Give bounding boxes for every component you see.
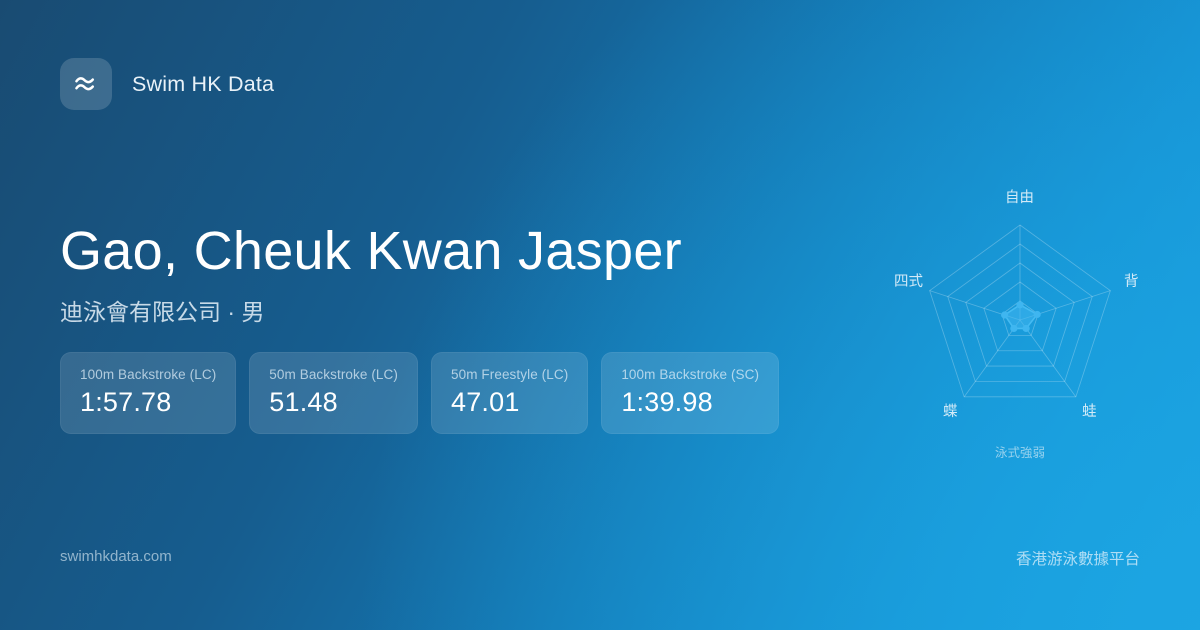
radar-point-0 [1016, 301, 1023, 308]
radar-point-4 [1001, 311, 1008, 318]
radar-point-2 [1023, 325, 1030, 332]
radar-label-butterfly: 蝶 [943, 400, 958, 421]
radar-label-backstroke: 背 [1124, 270, 1139, 291]
radar-plot [865, 172, 1175, 422]
footer-site-url: swimhkdata.com [60, 548, 172, 565]
radar-caption: 泳式強弱 [865, 442, 1175, 461]
brand-name: Swim HK Data [132, 72, 274, 97]
best-time-event: 100m Backstroke (SC) [621, 367, 759, 382]
best-time-event: 50m Backstroke (LC) [269, 367, 398, 382]
wave-approx-icon [71, 69, 101, 99]
radar-point-3 [1010, 325, 1017, 332]
stroke-strength-radar-chart: 自由 背 蛙 蝶 四式 泳式強弱 [865, 172, 1175, 468]
best-time-event: 50m Freestyle (LC) [451, 367, 568, 382]
brand-lockup: Swim HK Data [60, 58, 274, 110]
footer-tagline: 香港游泳數據平台 [1016, 547, 1140, 569]
best-time-value: 1:39.98 [621, 387, 759, 418]
app-logo-tile [60, 58, 112, 110]
radar-label-freestyle: 自由 [1005, 186, 1034, 207]
athlete-hero: Gao, Cheuk Kwan Jasper 迪泳會有限公司 · 男 [60, 222, 820, 327]
best-time-value: 47.01 [451, 387, 568, 418]
best-time-card: 50m Backstroke (LC) 51.48 [249, 352, 418, 434]
radar-label-im: 四式 [894, 270, 923, 291]
best-time-card: 100m Backstroke (LC) 1:57.78 [60, 352, 236, 434]
best-time-card: 100m Backstroke (SC) 1:39.98 [601, 352, 779, 434]
best-time-event: 100m Backstroke (LC) [80, 367, 216, 382]
page-title: Gao, Cheuk Kwan Jasper [60, 222, 820, 280]
og-card-canvas: Swim HK Data Gao, Cheuk Kwan Jasper 迪泳會有… [0, 0, 1200, 630]
radar-point-1 [1034, 311, 1041, 318]
best-time-card: 50m Freestyle (LC) 47.01 [431, 352, 588, 434]
best-times-card-row: 100m Backstroke (LC) 1:57.78 50m Backstr… [60, 352, 779, 434]
best-time-value: 1:57.78 [80, 387, 216, 418]
athlete-club-gender: 迪泳會有限公司 · 男 [60, 293, 820, 327]
best-time-value: 51.48 [269, 387, 398, 418]
radar-label-breaststroke: 蛙 [1082, 400, 1097, 421]
